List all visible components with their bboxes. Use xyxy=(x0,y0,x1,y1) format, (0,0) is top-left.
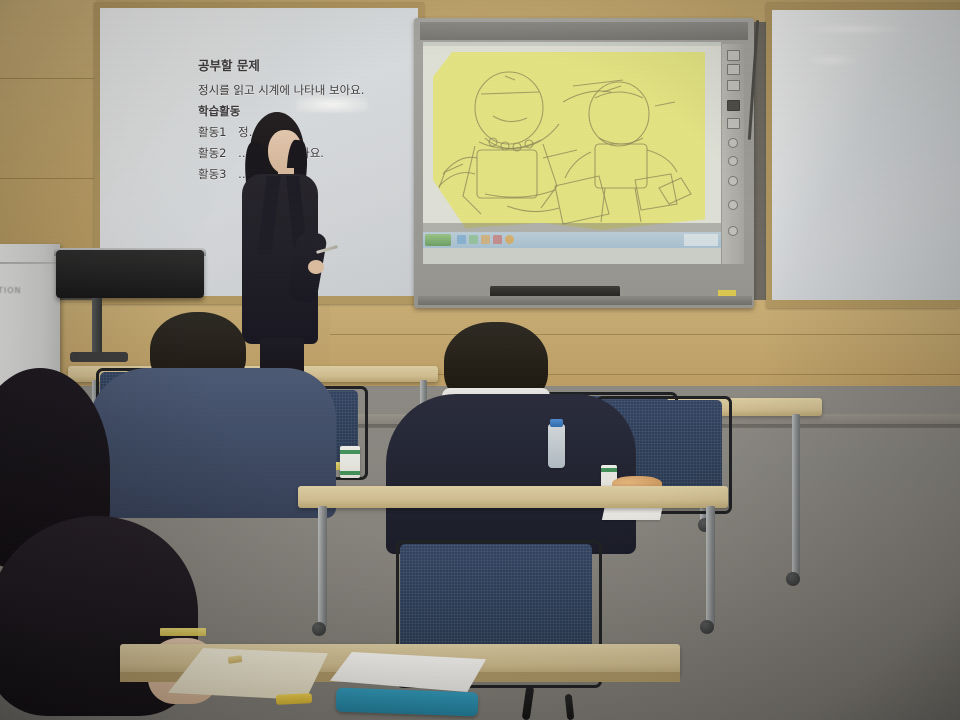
name-card xyxy=(160,628,206,636)
iwb-button-8-icon[interactable] xyxy=(728,176,738,186)
taskbar-icon-2[interactable] xyxy=(469,235,478,244)
attendee-dark-suit[interactable] xyxy=(386,322,636,552)
iwb-button-5-icon[interactable] xyxy=(727,118,740,129)
iwb-button-6-icon[interactable] xyxy=(728,138,738,148)
start-button-icon[interactable] xyxy=(425,234,451,246)
taskbar-icon-4[interactable] xyxy=(493,235,502,244)
table-leg xyxy=(318,506,327,628)
whiteboard-objective: 정시를 읽고 시계에 나타내 보아요. xyxy=(198,85,413,97)
iwb-button-7-icon[interactable] xyxy=(728,156,738,166)
iwb-button-9-icon[interactable] xyxy=(728,200,738,210)
wall-left-panel xyxy=(0,0,96,268)
iwb-lower-shelf xyxy=(418,296,752,305)
slide-menubar xyxy=(423,223,721,232)
taskbar-icon-1[interactable] xyxy=(457,235,466,244)
whiteboard-heading: 공부할 문제 xyxy=(198,60,413,73)
projected-slide xyxy=(423,46,721,248)
water-bottle[interactable] xyxy=(548,424,565,468)
cabinet-seam xyxy=(0,262,58,264)
taskbar-icon-3[interactable] xyxy=(481,235,490,244)
yellow-marker[interactable] xyxy=(276,693,312,705)
drink-carton-left[interactable] xyxy=(340,446,360,478)
classroom-photo: 공부할 문제 정시를 읽고 시계에 나타내 보아요. 학습활동 활동1정… 보아… xyxy=(0,0,960,720)
table-third-row[interactable] xyxy=(298,486,728,508)
slide-taskbar[interactable] xyxy=(423,232,721,248)
iwb-button-10-icon[interactable] xyxy=(728,226,738,236)
whiteboard-glare xyxy=(296,96,368,113)
iwb-button-3-icon[interactable] xyxy=(727,80,740,91)
iwb-button-2-icon[interactable] xyxy=(727,64,740,75)
attendee-torso xyxy=(386,394,636,554)
table-leg xyxy=(706,506,715,626)
table-leg xyxy=(792,414,800,576)
projected-screen[interactable] xyxy=(423,42,721,264)
taskbar-icon-5[interactable] xyxy=(505,235,514,244)
attendee-blue-jacket[interactable] xyxy=(88,312,338,512)
iwb-top-bezel xyxy=(420,22,748,40)
taskbar-system-tray[interactable] xyxy=(684,234,718,246)
table-caster xyxy=(312,622,326,636)
iwb-button-4-icon[interactable] xyxy=(727,100,740,111)
right-whiteboard[interactable] xyxy=(772,10,960,300)
pencil-case[interactable] xyxy=(336,688,479,717)
presenter-hand xyxy=(308,260,324,274)
bottle-cap-icon xyxy=(550,419,563,427)
iwb-button-1-icon[interactable] xyxy=(727,50,740,61)
cabinet-brand-label: TION xyxy=(0,286,46,298)
table-caster xyxy=(700,620,714,634)
iwb-button-strip[interactable] xyxy=(722,44,744,264)
slide-child-drawing xyxy=(423,46,721,248)
podium-monitor[interactable] xyxy=(56,250,204,298)
table-caster xyxy=(786,572,800,586)
